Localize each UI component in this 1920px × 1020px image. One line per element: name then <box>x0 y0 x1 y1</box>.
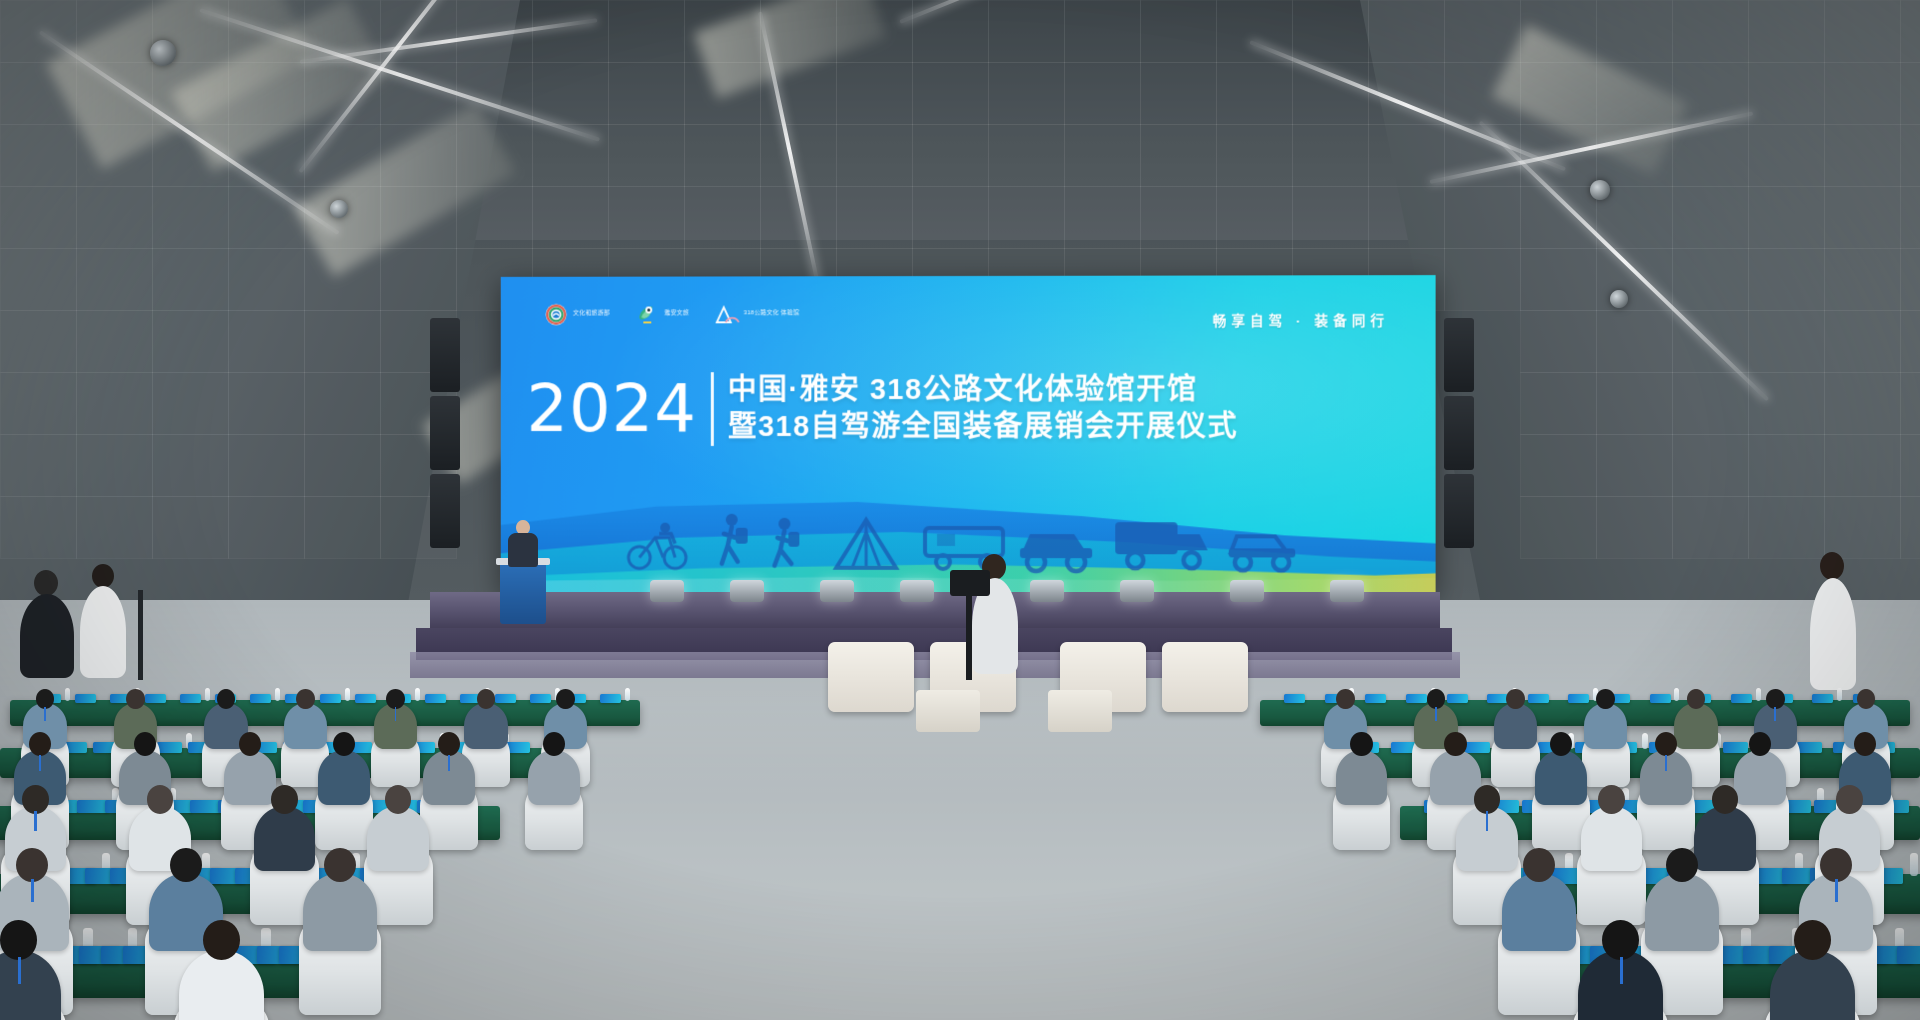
crew-head <box>34 570 58 596</box>
wall-tile <box>1824 310 1901 373</box>
tripod <box>138 590 143 680</box>
crew-head <box>92 564 114 588</box>
line-array-speaker-right <box>1444 474 1474 548</box>
table-nameplate <box>1897 946 1920 964</box>
wall-tile <box>1748 248 1825 311</box>
table-nameplate <box>1365 694 1386 703</box>
audience-attendee <box>1694 806 1756 871</box>
wall-tile <box>532 62 609 125</box>
wall-tile <box>1444 0 1521 63</box>
wall-tile <box>1596 434 1673 497</box>
table-nameplate <box>157 742 182 753</box>
wall-tile <box>912 62 989 125</box>
wall-tile <box>1672 496 1749 559</box>
wall-tile <box>1748 0 1825 63</box>
hiker-icon <box>774 518 799 566</box>
wall-tile <box>152 496 229 559</box>
attendee-lanyard <box>1774 707 1776 721</box>
wall-tile <box>1596 310 1673 373</box>
attendee-head <box>385 785 411 814</box>
wall-tile <box>1824 372 1901 435</box>
attendee-lanyard <box>44 707 46 721</box>
line-array-speaker-right <box>1444 318 1474 392</box>
vip-tea-table <box>916 690 980 732</box>
attendee-head <box>1857 689 1876 709</box>
attendee-head <box>1712 785 1738 814</box>
water-bottle <box>1674 688 1679 702</box>
attendee-head <box>271 785 297 814</box>
wall-tile <box>1520 496 1597 559</box>
wall-tile <box>152 310 229 373</box>
wall-tile <box>0 434 77 497</box>
wall-tile <box>76 310 153 373</box>
attendee-head <box>1550 732 1572 756</box>
wall-tile <box>1900 310 1920 373</box>
hostess-head <box>1820 552 1844 580</box>
wall-tile <box>1748 372 1825 435</box>
wall-tile <box>760 124 837 187</box>
cyclist-icon <box>628 523 686 569</box>
wall-tile <box>1292 124 1369 187</box>
wall-tile <box>152 372 229 435</box>
wall-tile <box>1520 434 1597 497</box>
wall-tile <box>608 124 685 187</box>
tent-icon <box>836 520 896 568</box>
wall-tile <box>684 124 761 187</box>
wall-tile <box>988 0 1065 63</box>
attendee-lanyard <box>1486 811 1489 830</box>
attendee-head <box>324 848 356 882</box>
logo-ya-an-tourism: 雅安文旅 <box>636 302 689 326</box>
attendee-head <box>16 848 48 882</box>
wall-tile <box>988 62 1065 125</box>
water-bottle <box>65 688 70 702</box>
attendee-lanyard <box>1435 707 1437 721</box>
wall-tile <box>1368 186 1445 249</box>
water-bottle <box>345 688 350 702</box>
wall-tile <box>152 186 229 249</box>
attendee-head <box>1474 785 1500 814</box>
lectern <box>500 562 546 624</box>
wall-tile <box>1140 186 1217 249</box>
wall-tile <box>1520 372 1597 435</box>
wall-tile <box>76 186 153 249</box>
table-nameplate <box>1812 694 1833 703</box>
attendee-lanyard <box>1620 957 1624 984</box>
line-array-speaker-right <box>1444 396 1474 470</box>
stage-wash-light <box>730 580 764 602</box>
wall-tile <box>1748 434 1825 497</box>
wall-tile <box>1140 62 1217 125</box>
wall-tile <box>1824 496 1901 559</box>
wall-tile <box>228 372 305 435</box>
logo-label: 文化和旅游部 <box>573 311 610 319</box>
screen-title-line-1: 中国·雅安 318公路文化体验馆开馆 <box>728 375 1238 407</box>
attendee-head <box>1794 920 1831 960</box>
wall-tile <box>76 248 153 311</box>
wall-tile <box>1672 124 1749 187</box>
wall-tile <box>1900 186 1920 249</box>
audience-attendee <box>224 750 276 805</box>
presenter-body <box>508 533 538 567</box>
wall-tile <box>228 310 305 373</box>
table-nameplate <box>180 694 201 703</box>
stage-wash-light <box>650 580 684 602</box>
wall-tile <box>532 124 609 187</box>
audience-attendee <box>254 806 316 871</box>
attendee-head <box>126 689 145 709</box>
attendee-head <box>36 689 55 709</box>
wall-tile <box>1064 62 1141 125</box>
table-nameplate <box>1723 742 1748 753</box>
ceiling-spotlamp <box>1610 290 1628 308</box>
wall-tile <box>1596 372 1673 435</box>
wall-tile <box>684 186 761 249</box>
attendee-head <box>22 785 48 814</box>
title-divider <box>711 372 714 446</box>
wall-tile <box>1672 434 1749 497</box>
wall-tile <box>1900 496 1920 559</box>
stage-wash-light <box>1330 580 1364 602</box>
leaf-panda-icon <box>636 303 660 327</box>
wall-tile <box>304 496 381 559</box>
attendee-head <box>0 920 37 960</box>
water-bottle <box>415 688 420 702</box>
attendee-lanyard <box>1665 755 1667 771</box>
attendee-head <box>1666 848 1698 882</box>
logo-culture-tourism: 文化和旅游部 <box>544 303 610 327</box>
wall-tile <box>1900 0 1920 63</box>
attendee-head <box>1427 689 1446 709</box>
table-nameplate <box>250 694 271 703</box>
wall-tile <box>0 372 77 435</box>
wall-tile <box>1140 0 1217 63</box>
table-nameplate <box>145 694 166 703</box>
attendee-head <box>1506 689 1525 709</box>
wall-tile <box>1824 0 1901 63</box>
water-bottle <box>625 688 630 702</box>
attendee-head <box>1598 785 1624 814</box>
wall-tile <box>1824 124 1901 187</box>
audience-attendee <box>1645 873 1719 951</box>
wall-tile <box>1292 0 1369 63</box>
audience-attendee <box>1674 703 1717 749</box>
wall-tile <box>1368 124 1445 187</box>
wall-tile <box>532 0 609 63</box>
wall-tile <box>1368 0 1445 63</box>
attendee-head <box>1523 848 1555 882</box>
table-nameplate <box>600 694 621 703</box>
wall-tile <box>1596 248 1673 311</box>
wall-tile <box>1824 434 1901 497</box>
press-camera-center <box>950 548 1040 678</box>
attendee-head <box>1336 689 1355 709</box>
screen-title-block: 2024 中国·雅安 318公路文化体验馆开馆 暨318自驾游全国装备展销会开展… <box>526 372 1238 446</box>
wall-tile <box>304 310 381 373</box>
audience-attendee <box>1734 750 1786 805</box>
wall-tile <box>1900 372 1920 435</box>
wall-tile <box>1748 186 1825 249</box>
wall-tile <box>836 62 913 125</box>
attendee-head <box>203 920 240 960</box>
audience-attendee <box>1535 750 1587 805</box>
wall-tile <box>1824 186 1901 249</box>
wall-tile <box>836 124 913 187</box>
attendee-head <box>1836 785 1862 814</box>
water-bottle <box>275 688 280 702</box>
wall-tile <box>228 434 305 497</box>
table-nameplate <box>1528 694 1549 703</box>
water-bottle <box>205 688 210 702</box>
hiker-icon <box>722 514 748 564</box>
wall-tile <box>76 434 153 497</box>
vip-tea-table <box>1048 690 1112 732</box>
ceiling-spotlamp <box>330 200 348 218</box>
attendee-lanyard <box>448 755 450 771</box>
crew-body <box>80 586 126 678</box>
attendee-head <box>1602 920 1639 960</box>
wall-tile <box>380 248 457 311</box>
screen-year: 2024 <box>526 376 696 442</box>
wall-tile <box>1444 248 1521 311</box>
audience-attendee <box>303 873 377 951</box>
wall-tile <box>304 434 381 497</box>
audience-attendee <box>1336 750 1388 805</box>
wall-tile <box>1672 0 1749 63</box>
wall-tile <box>0 310 77 373</box>
screen-logo-row: 文化和旅游部 雅安文旅 <box>544 302 799 326</box>
wall-tile <box>1444 186 1521 249</box>
table-nameplate <box>530 694 551 703</box>
logo-318-road: 318公路文化 体验馆 <box>715 302 799 326</box>
wall-tile <box>1900 62 1920 125</box>
audience-attendee <box>464 703 507 749</box>
wall-tile <box>152 248 229 311</box>
wall-tile <box>1824 248 1901 311</box>
attendee-lanyard <box>1835 879 1838 902</box>
attendee-head <box>1687 689 1706 709</box>
wall-tile <box>1748 62 1825 125</box>
wall-tile <box>1216 124 1293 187</box>
audience-attendee <box>1502 873 1576 951</box>
table-nameplate <box>75 694 96 703</box>
water-bottle <box>1837 688 1842 702</box>
attendee-head <box>1444 732 1466 756</box>
wall-tile <box>228 248 305 311</box>
table-nameplate <box>320 694 341 703</box>
wall-tile <box>1748 310 1825 373</box>
audience-attendee <box>318 750 370 805</box>
mountain-arch-icon <box>715 302 739 326</box>
wall-tile <box>532 186 609 249</box>
ring-multicolor-icon <box>544 303 568 327</box>
led-stage-screen: 文化和旅游部 雅安文旅 <box>501 275 1436 595</box>
attendee-lanyard <box>18 957 22 984</box>
attendee-head <box>1655 732 1677 756</box>
ceiling-spotlamp <box>150 40 176 66</box>
table-nameplate <box>190 800 220 813</box>
wall-tile <box>912 186 989 249</box>
wall-tile <box>152 434 229 497</box>
table-nameplate <box>77 800 107 813</box>
vip-sofa <box>1162 642 1248 712</box>
wall-tile <box>1140 124 1217 187</box>
stage-deck <box>430 592 1440 630</box>
attendee-head <box>1766 689 1785 709</box>
table-nameplate <box>1797 742 1822 753</box>
wall-tile <box>1596 496 1673 559</box>
wall-tile <box>1824 62 1901 125</box>
attendee-lanyard <box>395 707 397 721</box>
table-nameplate <box>1447 694 1468 703</box>
audience-attendee <box>284 703 327 749</box>
table-nameplate <box>1731 694 1752 703</box>
wall-tile <box>76 372 153 435</box>
line-array-speaker-left <box>430 318 460 392</box>
attendee-head <box>170 848 202 882</box>
wall-tile <box>1064 124 1141 187</box>
wall-tile <box>608 0 685 63</box>
video-camera-icon <box>950 570 990 596</box>
stage-wash-light <box>900 580 934 602</box>
stage-wash-light <box>1230 580 1264 602</box>
attendee-head <box>147 785 173 814</box>
screenshot-root: 文化和旅游部 雅安文旅 <box>0 0 1920 1020</box>
wall-tile <box>0 124 77 187</box>
wall-tile <box>1900 124 1920 187</box>
screen-title-line-2: 暨318自驾游全国装备展销会开展仪式 <box>728 411 1238 442</box>
wall-tile <box>0 186 77 249</box>
wall-tile <box>1520 310 1597 373</box>
attendee-lanyard <box>39 755 41 771</box>
wall-tile <box>608 186 685 249</box>
wall-tile <box>1064 186 1141 249</box>
attendee-head <box>477 689 496 709</box>
wall-tile <box>304 372 381 435</box>
line-array-speaker-left <box>430 396 460 470</box>
wall-tile <box>1748 124 1825 187</box>
audience-attendee <box>1584 703 1627 749</box>
motorhome-icon <box>1115 522 1207 568</box>
wall-tile <box>1900 434 1920 497</box>
attendee-lanyard <box>34 811 37 830</box>
screen-slogan: 畅享自驾 · 装备同行 <box>1213 309 1389 329</box>
attendee-head <box>1350 732 1372 756</box>
presenter-at-podium <box>508 520 538 566</box>
audience-attendee <box>367 806 429 871</box>
table-nameplate <box>355 694 376 703</box>
wall-tile <box>1064 0 1141 63</box>
attendee-head <box>1820 848 1852 882</box>
stage-wash-light <box>820 580 854 602</box>
logo-label: 318公路文化 体验馆 <box>744 311 800 319</box>
stage-wash-light <box>1120 580 1154 602</box>
wall-tile <box>1900 248 1920 311</box>
attendee-lanyard <box>31 879 34 902</box>
wall-tile <box>912 124 989 187</box>
hostess-right <box>1800 552 1870 692</box>
audience-attendee <box>528 750 580 805</box>
wall-tile <box>1292 186 1369 249</box>
attendee-head <box>217 689 236 709</box>
water-bottle <box>1642 733 1648 749</box>
wall-tile <box>1216 62 1293 125</box>
line-array-speaker-left <box>430 474 460 548</box>
wall-tile <box>1748 496 1825 559</box>
table-nameplate <box>1284 694 1305 703</box>
table-nameplate <box>1406 694 1427 703</box>
wall-tile <box>988 186 1065 249</box>
table-nameplate <box>495 694 516 703</box>
wall-tile <box>836 186 913 249</box>
jeep-icon <box>1229 536 1295 570</box>
table-nameplate <box>1465 742 1490 753</box>
table-nameplate <box>425 694 446 703</box>
table-nameplate <box>1650 694 1671 703</box>
attendee-head <box>556 689 575 709</box>
water-bottle <box>1756 688 1761 702</box>
tripod <box>966 594 972 680</box>
hostess-body <box>1810 578 1856 690</box>
audience-attendee <box>1581 806 1643 871</box>
attendee-head <box>296 689 315 709</box>
audience-attendee <box>1494 703 1537 749</box>
wall-tile <box>228 186 305 249</box>
wall-tile <box>76 496 153 559</box>
wall-tile <box>1596 0 1673 63</box>
wall-tile <box>0 496 77 559</box>
wall-tile <box>0 248 77 311</box>
attendee-head <box>1596 689 1615 709</box>
press-crew-left <box>18 560 168 680</box>
screen-title-lines: 中国·雅安 318公路文化体验馆开馆 暨318自驾游全国装备展销会开展仪式 <box>728 375 1238 443</box>
wall-tile <box>608 62 685 125</box>
logo-label: 雅安文旅 <box>664 311 689 319</box>
water-bottle <box>1910 853 1918 876</box>
vip-sofa <box>828 642 914 712</box>
wall-tile <box>988 124 1065 187</box>
attendee-head <box>386 689 405 709</box>
wall-tile <box>1672 186 1749 249</box>
ceiling-spotlamp <box>1590 180 1610 200</box>
table-nameplate <box>1568 694 1589 703</box>
wall-tile <box>1672 372 1749 435</box>
wall-tile <box>1520 248 1597 311</box>
crew-body <box>20 594 74 678</box>
table-nameplate <box>1487 694 1508 703</box>
wall-tile <box>1672 248 1749 311</box>
wall-tile <box>228 496 305 559</box>
wall-tile <box>1216 186 1293 249</box>
